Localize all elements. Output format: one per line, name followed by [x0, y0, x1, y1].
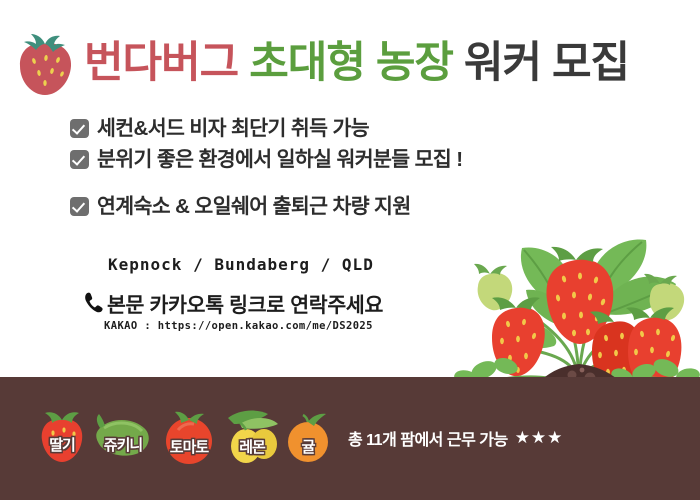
checkbox-checked-icon: [70, 197, 89, 216]
band-fruit-label: 레몬: [222, 436, 282, 457]
checklist-item-label: 연계숙소 & 오일쉐어 출퇴근 차량 지원: [97, 192, 411, 221]
band-fruit-orange: 귤: [282, 408, 334, 468]
title-part-red: 번다버그: [84, 39, 238, 87]
band-fruit-label: 토마토: [156, 436, 222, 457]
poster-header: 번다버그 초대형 농장 워커 모집: [0, 22, 700, 104]
band-stars: ★★★: [515, 428, 564, 448]
page-title: 번다버그 초대형 농장 워커 모집: [84, 42, 629, 85]
band-fruit-label: 귤: [282, 436, 334, 457]
poster-root: 번다버그 초대형 농장 워커 모집 세컨&서드 비자 최단기 취득 가능 분위기…: [0, 0, 700, 500]
checklist-item-0: 세컨&서드 비자 최단기 취득 가능: [70, 114, 540, 143]
checkbox-checked-icon: [70, 119, 89, 138]
title-part-dark: 워커 모집: [464, 39, 629, 87]
checklist-item-label: 세컨&서드 비자 최단기 취득 가능: [97, 114, 369, 143]
contact-line: 본문 카카오톡 링크로 연락주세요: [84, 288, 383, 318]
band-fruit-label: 딸기: [34, 434, 90, 455]
band-note-text: 총 11개 팜에서 근무 가능: [348, 426, 508, 450]
band-content-row: 딸기 쥬키니 토마토: [0, 400, 700, 475]
checklist-item-1: 분위기 좋은 환경에서 일하실 워커분들 모집 !: [70, 145, 540, 174]
location-text: Kepnock / Bundaberg / QLD: [108, 255, 374, 274]
band-fruit-lemon: 레몬: [222, 408, 282, 468]
checkbox-checked-icon: [70, 150, 89, 169]
strawberry-plant-illustration: [454, 176, 700, 391]
checklist-item-label: 분위기 좋은 환경에서 일하실 워커분들 모집 !: [97, 145, 462, 174]
band-fruit-strawberry: 딸기: [34, 408, 90, 468]
phone-icon: [84, 292, 104, 314]
strawberry-icon: [14, 28, 78, 98]
band-fruit-tomato: 토마토: [156, 408, 222, 468]
band-fruit-label: 쥬키니: [90, 434, 156, 455]
band-fruit-zucchini: 쥬키니: [90, 408, 156, 468]
contact-text: 본문 카카오톡 링크로 연락주세요: [107, 288, 383, 318]
kakao-link-text: KAKAO : https://open.kakao.com/me/DS2025: [104, 320, 373, 332]
title-part-green: 초대형 농장: [249, 39, 453, 87]
